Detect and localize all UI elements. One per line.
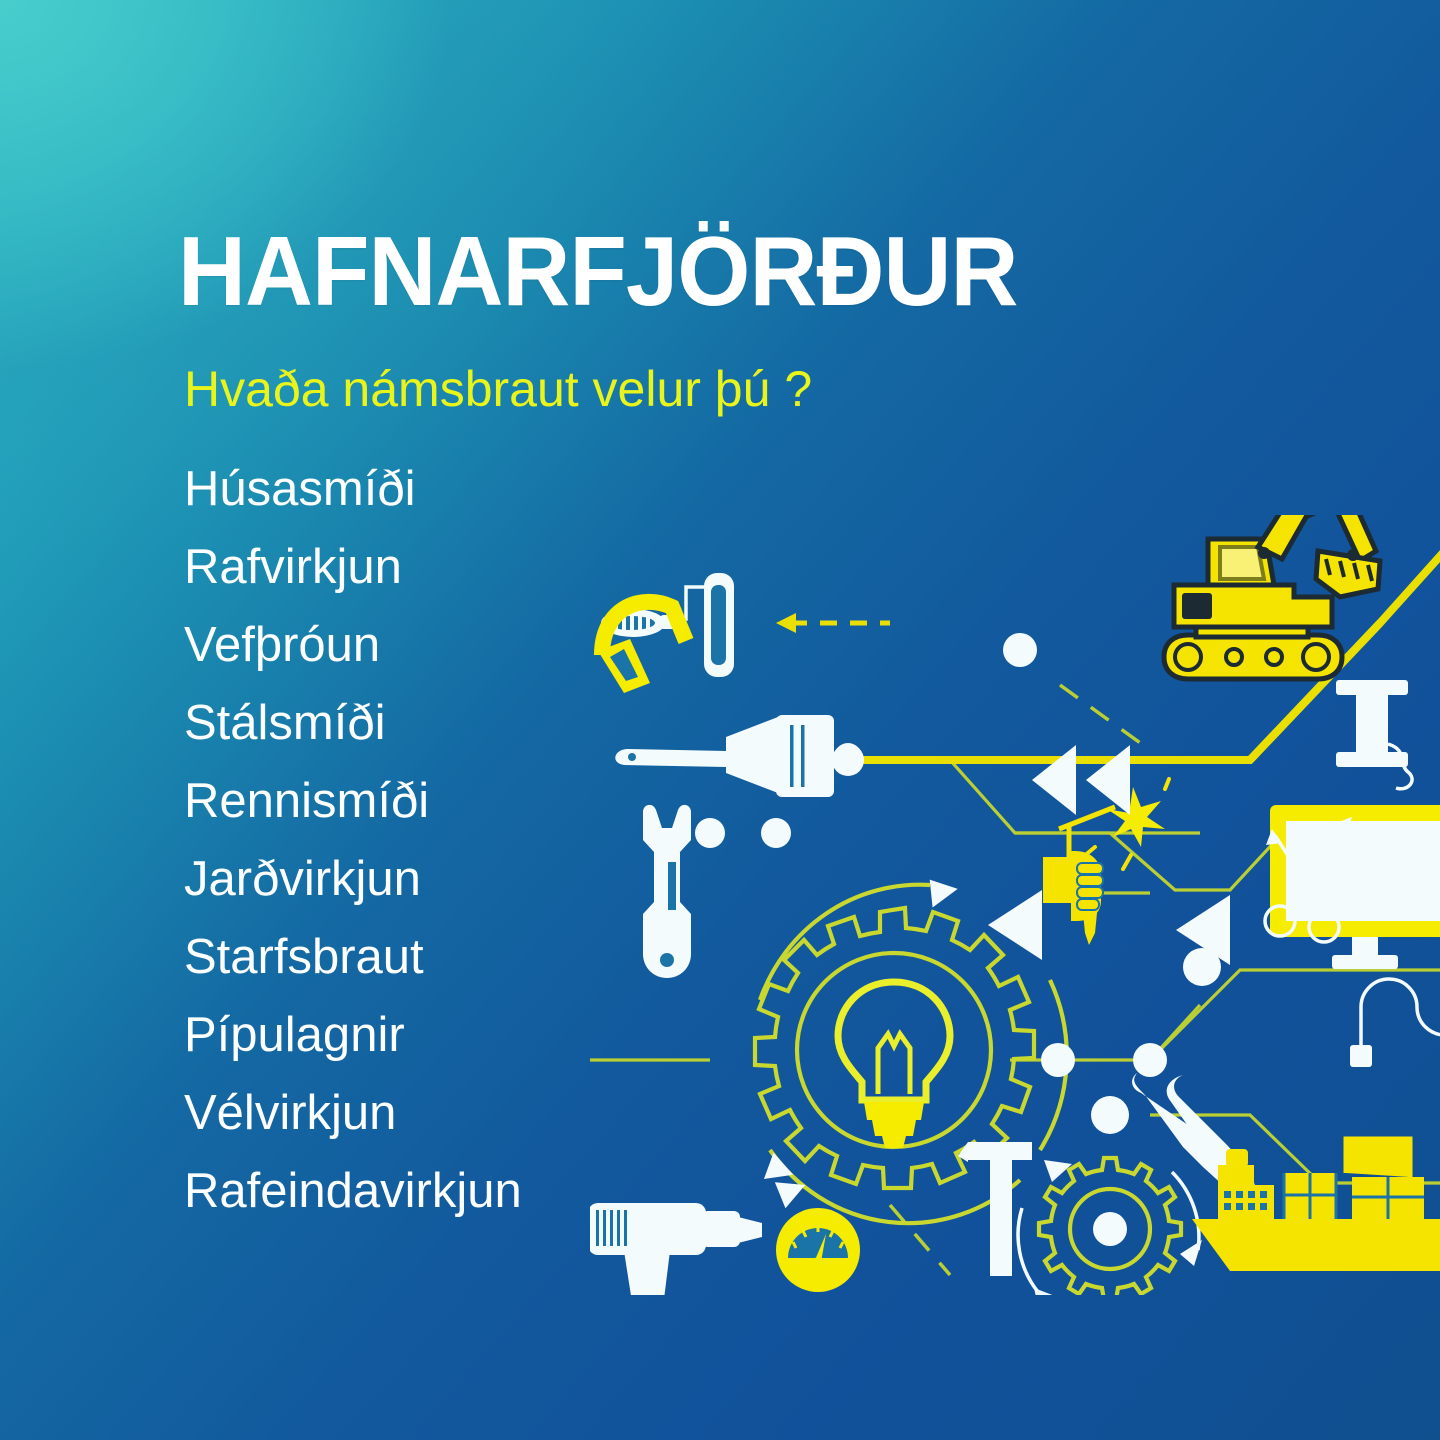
poster-canvas: HAFNARFJÖRÐUR Hvaða námsbraut velur þú ?…	[0, 0, 1440, 1440]
list-item[interactable]: Vefþróun	[184, 606, 818, 684]
list-item[interactable]: Pípulagnir	[184, 996, 818, 1074]
list-item[interactable]: Stálsmíði	[184, 684, 818, 762]
list-item[interactable]: Rennismíði	[184, 762, 818, 840]
list-item[interactable]: Vélvirkjun	[184, 1074, 818, 1152]
program-list: Húsasmíði Rafvirkjun Vefþróun Stálsmíði …	[184, 450, 818, 1230]
list-item[interactable]: Rafvirkjun	[184, 528, 818, 606]
thread-spool-icon	[1336, 680, 1412, 789]
small-gear-icon	[1018, 1158, 1202, 1295]
list-item[interactable]: Húsasmíði	[184, 450, 818, 528]
page-title: HAFNARFJÖRÐUR	[178, 222, 792, 320]
text-block: HAFNARFJÖRÐUR Hvaða námsbraut velur þú ?…	[178, 222, 818, 1230]
lightbulb-icon	[838, 982, 950, 1148]
list-item[interactable]: Rafeindavirkjun	[184, 1152, 818, 1230]
page-subtitle: Hvaða námsbraut velur þú ?	[184, 364, 818, 414]
arrow-left-icon	[988, 745, 1230, 965]
monitor-icon	[1270, 805, 1440, 969]
cargo-ship-icon	[1192, 1131, 1440, 1271]
list-item[interactable]: Jarðvirkjun	[184, 840, 818, 918]
list-item[interactable]: Starfsbraut	[184, 918, 818, 996]
